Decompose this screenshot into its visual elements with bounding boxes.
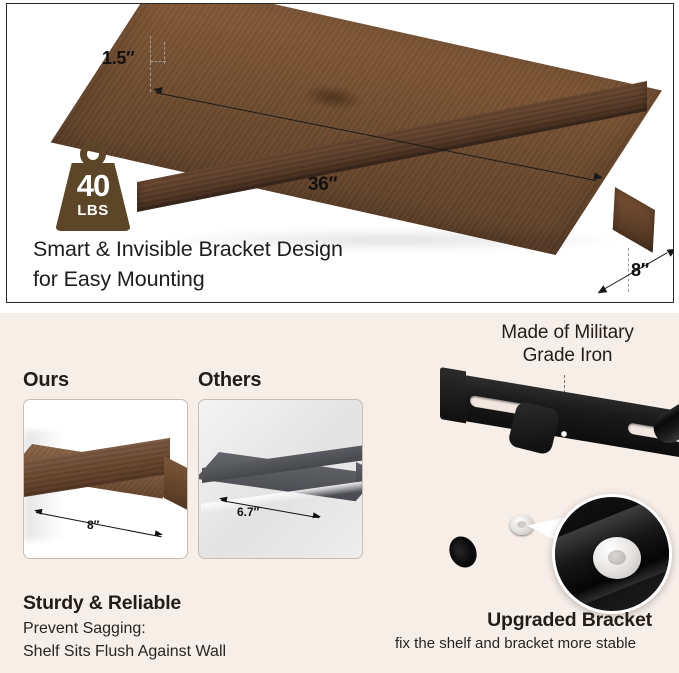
thickness-leader-bottom: [150, 61, 166, 62]
hero-headline: Smart & Invisible Bracket Design for Eas…: [33, 235, 453, 294]
thickness-leader-top: [150, 36, 151, 62]
bracket-rod-end-cap: [444, 532, 481, 572]
military-grade-callout-line2: Grade Iron: [460, 344, 675, 367]
comparison-thumbnail-others: 6.7″: [198, 399, 363, 559]
depth-leader-left: [628, 248, 629, 292]
ours-arrow-left-icon: [34, 507, 43, 514]
shelf-top-face: [51, 3, 662, 255]
comparison-subtext-line1: Prevent Sagging:: [23, 618, 226, 641]
infographic-page: 1.5″ 36″ 8″ 40 LBS Smart & Invisible Bra…: [0, 0, 679, 673]
length-arrow-right-icon: [593, 172, 603, 182]
others-arrow-right-icon: [313, 512, 322, 519]
bracket-wall-plate: [440, 371, 679, 464]
hero-headline-line2: for Easy Mounting: [33, 265, 453, 295]
bracket-heading: Upgraded Bracket: [460, 609, 679, 632]
ours-arrow-right-icon: [155, 530, 164, 537]
magnifier-screw-closeup: [593, 537, 641, 579]
bracket-rod-joint: [507, 400, 561, 455]
dimension-length-label: 36″: [308, 174, 337, 196]
comparison-label-others: Others: [198, 369, 261, 392]
length-arrow-left-icon: [152, 85, 162, 95]
ours-depth-label: 8″: [87, 518, 99, 532]
dimension-depth-label: 8″: [631, 260, 649, 281]
others-depth-label: 6.7″: [237, 505, 259, 519]
weight-capacity-unit: LBS: [51, 203, 135, 218]
hero-headline-line1: Smart & Invisible Bracket Design: [33, 235, 453, 265]
military-grade-callout: Made of Military Grade Iron: [460, 321, 675, 367]
weight-icon: 40 LBS: [51, 141, 135, 233]
bracket-pilot-hole: [561, 431, 567, 437]
dimension-thickness-label: 1.5″: [102, 48, 134, 69]
ours-shelf-end-face: [164, 456, 188, 511]
comparison-subtext-line2: Shelf Sits Flush Against Wall: [23, 641, 226, 664]
others-arrow-left-icon: [219, 495, 228, 502]
comparison-thumbnail-ours: 8″: [23, 399, 188, 559]
comparison-heading: Sturdy & Reliable: [23, 592, 181, 615]
bracket-plate-tab: [440, 367, 466, 423]
weight-capacity-value: 40: [51, 170, 135, 201]
comparison-subtext: Prevent Sagging: Shelf Sits Flush Agains…: [23, 618, 226, 663]
comparison-label-ours: Ours: [23, 369, 69, 392]
magnifier-detail-circle: [552, 494, 672, 614]
military-grade-callout-line1: Made of Military: [460, 321, 675, 344]
thickness-leader-drop: [150, 62, 151, 92]
hero-panel: 1.5″ 36″ 8″ 40 LBS Smart & Invisible Bra…: [6, 3, 674, 303]
bracket-section: Made of Military Grade Iron Upgraded Bra…: [352, 313, 679, 673]
bracket-subheading: fix the shelf and bracket more stable: [352, 635, 679, 652]
lower-section: Ours Others 8″ 6.7″ Sturdy & Reliable Pr…: [0, 313, 679, 673]
